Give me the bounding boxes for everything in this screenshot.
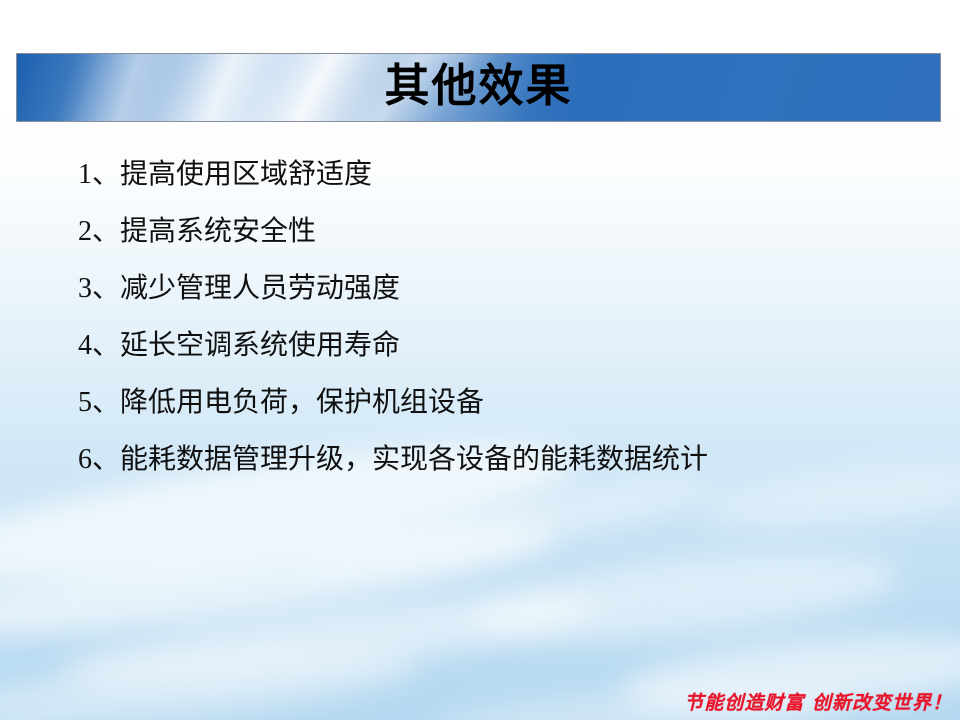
list-item-index: 6、 bbox=[78, 431, 120, 488]
slide-title-banner: 其他效果 bbox=[16, 53, 941, 122]
list-item-label: 提高使用区域舒适度 bbox=[120, 146, 372, 203]
list-item: 6、 能耗数据管理升级，实现各设备的能耗数据统计 bbox=[78, 431, 918, 488]
cloud-wisp-icon bbox=[58, 577, 601, 702]
bullet-list: 1、 提高使用区域舒适度 2、 提高系统安全性 3、 减少管理人员劳动强度 4、… bbox=[78, 146, 918, 488]
list-item: 4、 延长空调系统使用寿命 bbox=[78, 317, 918, 374]
list-item: 2、 提高系统安全性 bbox=[78, 203, 918, 260]
cloud-wisp-icon bbox=[0, 635, 422, 720]
presentation-slide: 其他效果 1、 提高使用区域舒适度 2、 提高系统安全性 3、 减少管理人员劳动… bbox=[0, 0, 960, 720]
list-item-label: 减少管理人员劳动强度 bbox=[120, 260, 400, 317]
list-item-index: 1、 bbox=[78, 146, 120, 203]
list-item-index: 4、 bbox=[78, 317, 120, 374]
list-item: 1、 提高使用区域舒适度 bbox=[78, 146, 918, 203]
cloud-wisp-icon bbox=[0, 501, 562, 659]
list-item: 3、 减少管理人员劳动强度 bbox=[78, 260, 918, 317]
list-item-index: 5、 bbox=[78, 374, 120, 431]
list-item: 5、 降低用电负荷，保护机组设备 bbox=[78, 374, 918, 431]
list-item-label: 延长空调系统使用寿命 bbox=[120, 317, 400, 374]
list-item-index: 2、 bbox=[78, 203, 120, 260]
list-item-label: 能耗数据管理升级，实现各设备的能耗数据统计 bbox=[120, 431, 708, 488]
footer-slogan: 节能创造财富 创新改变世界！ bbox=[684, 688, 952, 715]
page-title: 其他效果 bbox=[384, 64, 572, 109]
list-item-label: 降低用电负荷，保护机组设备 bbox=[120, 374, 484, 431]
list-item-label: 提高系统安全性 bbox=[120, 203, 316, 260]
cloud-wisp-icon bbox=[467, 538, 902, 658]
list-item-index: 3、 bbox=[78, 260, 120, 317]
